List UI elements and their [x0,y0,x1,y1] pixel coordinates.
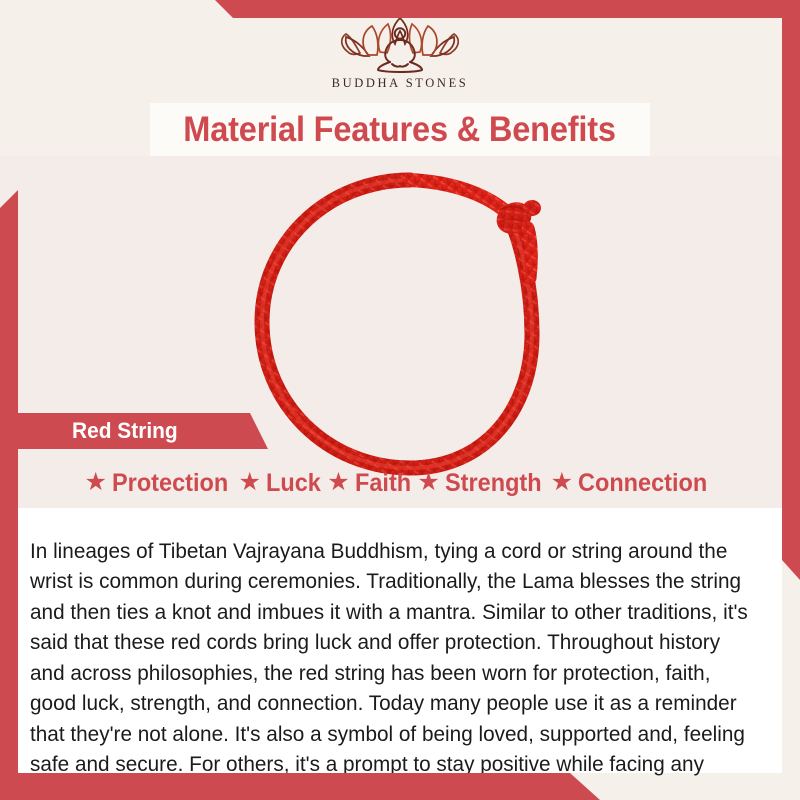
material-ribbon-label: Red String [18,413,268,449]
description-panel: In lineages of Tibetan Vajrayana Buddhis… [18,508,782,773]
benefit-label: Strength [445,469,542,498]
page-title: Material Features & Benefits [184,110,617,150]
benefit-item-luck: ★ Luck [239,469,325,498]
red-string-bracelet-image [232,166,588,486]
frame-right-bar [782,0,800,580]
lotus-meditation-logo-icon [334,12,466,74]
benefit-label: Connection [578,469,707,498]
frame-left-bar [0,190,18,800]
benefit-item-faith: ★ Faith [327,469,414,498]
product-feature-poster: BUDDHA STONES Material Features & Benefi… [0,0,800,800]
product-image-stage [0,156,800,508]
title-banner: Material Features & Benefits [150,103,650,156]
benefit-item-protection: ★ Protection [84,469,235,498]
material-name: Red String [72,418,178,444]
description-text: In lineages of Tibetan Vajrayana Buddhis… [30,536,758,800]
benefit-item-strength: ★ Strength [417,469,547,498]
star-icon: ★ [551,470,573,495]
star-icon: ★ [239,470,261,495]
brand-name: BUDDHA STONES [332,76,469,91]
star-icon: ★ [417,470,439,495]
benefits-row: ★ Protection ★ Luck ★ Faith ★ Strength ★… [18,462,782,504]
brand-logo: BUDDHA STONES [332,12,469,91]
benefit-label: Faith [355,469,411,498]
benefit-item-connection: ★ Connection [551,469,716,498]
benefit-label: Protection [112,469,228,498]
star-icon: ★ [84,470,106,495]
star-icon: ★ [327,470,349,495]
benefit-label: Luck [266,469,321,498]
